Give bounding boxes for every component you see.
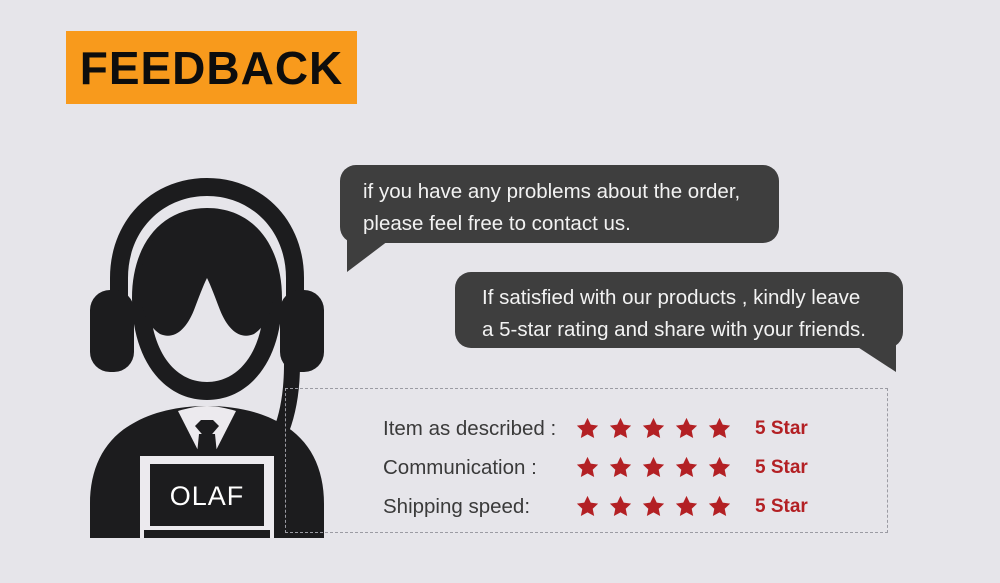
support-message-line-2: please feel free to contact us. <box>363 208 779 240</box>
star-icon <box>575 416 600 441</box>
star-icon <box>608 494 633 519</box>
rating-value-item-as-described: 5 Star <box>749 418 808 440</box>
star-icon <box>608 455 633 480</box>
laptop: OLAF <box>140 456 274 538</box>
laptop-brand-label: OLAF <box>170 481 245 511</box>
star-icon <box>707 416 732 441</box>
star-icon <box>575 494 600 519</box>
rating-row: Shipping speed: 5 Star <box>383 487 853 526</box>
star-icon <box>707 455 732 480</box>
star-icon <box>707 494 732 519</box>
rating-row: Item as described : 5 Star <box>383 409 853 448</box>
support-message-line-1: if you have any problems about the order… <box>363 176 779 208</box>
feedback-banner: FEEDBACK <box>66 31 357 104</box>
feedback-banner-page: FEEDBACK <box>0 0 1000 583</box>
star-icon <box>641 416 666 441</box>
rating-label-communication: Communication : <box>383 456 575 480</box>
star-icon <box>641 455 666 480</box>
rating-value-shipping-speed: 5 Star <box>749 496 808 518</box>
rating-label-shipping-speed: Shipping speed: <box>383 495 575 519</box>
star-icon <box>575 455 600 480</box>
support-message-bubble: if you have any problems about the order… <box>340 165 779 243</box>
rating-request-line-1: If satisfied with our products , kindly … <box>482 282 903 314</box>
star-icon <box>641 494 666 519</box>
star-icon <box>608 416 633 441</box>
star-icon <box>674 416 699 441</box>
rating-stars-communication <box>575 455 749 480</box>
rating-stars-shipping-speed <box>575 494 749 519</box>
feedback-title: FEEDBACK <box>80 45 344 91</box>
star-icon <box>674 494 699 519</box>
rating-row: Communication : 5 Star <box>383 448 853 487</box>
star-icon <box>674 455 699 480</box>
rating-value-communication: 5 Star <box>749 457 808 479</box>
rating-stars-item-as-described <box>575 416 749 441</box>
support-message-tail <box>347 238 392 272</box>
rating-request-message-bubble: If satisfied with our products , kindly … <box>455 272 903 348</box>
ratings-list: Item as described : 5 Star Communication… <box>383 409 853 526</box>
rating-label-item-as-described: Item as described : <box>383 417 575 441</box>
rating-request-line-2: a 5-star rating and share with your frie… <box>482 314 903 346</box>
